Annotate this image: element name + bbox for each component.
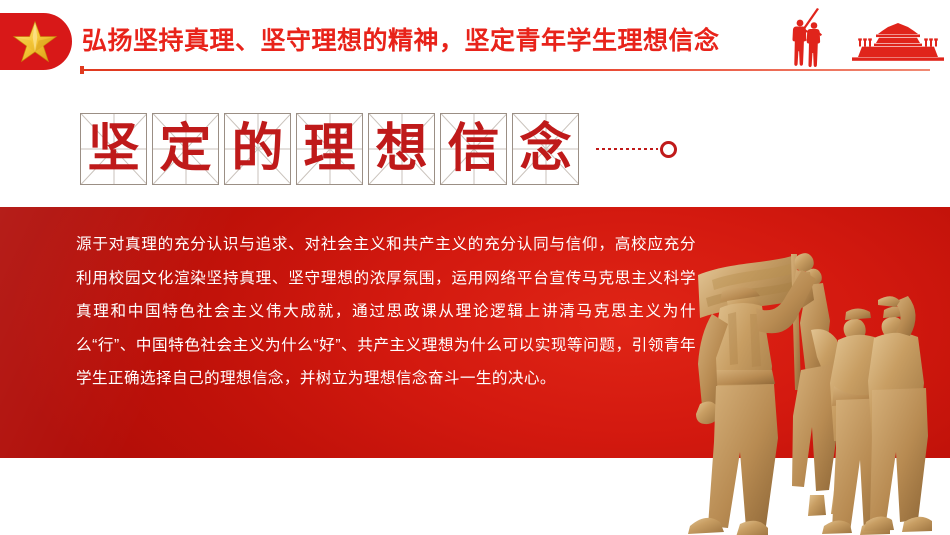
title-char-cell: 的 — [224, 113, 291, 185]
title-char: 的 — [225, 114, 290, 184]
page-title: 坚 定 的 理 想 — [80, 113, 677, 185]
title-char-cell: 想 — [368, 113, 435, 185]
header-title: 弘扬坚持真理、坚守理想的精神，坚定青年学生理想信念 — [82, 25, 720, 57]
title-dotted-connector — [596, 148, 658, 150]
header-divider-line — [82, 69, 930, 71]
title-char-cell: 定 — [152, 113, 219, 185]
circle-marker-icon — [660, 141, 677, 158]
star-badge — [0, 13, 72, 70]
title-char-cell: 坚 — [80, 113, 147, 185]
title-char-cell: 理 — [296, 113, 363, 185]
title-char-cell: 念 — [512, 113, 579, 185]
slide-header: 弘扬坚持真理、坚守理想的精神，坚定青年学生理想信念 — [0, 0, 950, 78]
title-char: 信 — [441, 114, 506, 184]
body-paragraph: 源于对真理的充分认识与追求、对社会主义和共产主义的充分认同与信仰，高校应充分利用… — [76, 228, 696, 396]
five-point-star-icon — [12, 19, 58, 65]
revolutionary-figures-silhouette-icon — [786, 6, 840, 68]
slide-root: 弘扬坚持真理、坚守理想的精神，坚定青年学生理想信念 — [0, 0, 950, 535]
title-char: 想 — [369, 114, 434, 184]
title-char-cell: 信 — [440, 113, 507, 185]
title-char: 坚 — [81, 114, 146, 184]
title-char: 念 — [513, 114, 578, 184]
title-char: 理 — [297, 114, 362, 184]
statue-figure-right — [864, 296, 932, 532]
tiananmen-gate-silhouette-icon — [848, 22, 948, 62]
title-char: 定 — [153, 114, 218, 184]
revolutionary-soldiers-statue — [660, 240, 950, 535]
